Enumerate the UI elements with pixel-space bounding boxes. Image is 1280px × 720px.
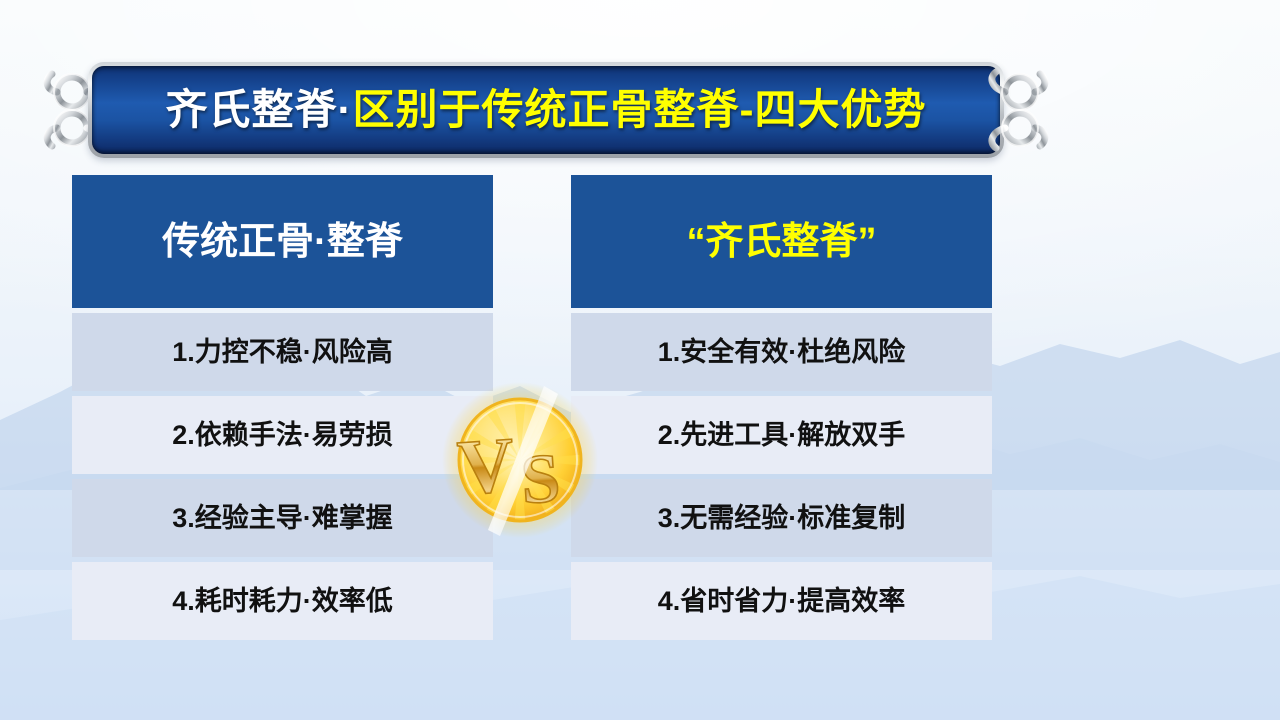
slide-root: 齐氏整脊·区别于传统正骨整脊-四大优势 [0, 0, 1280, 720]
table-row: 1.安全有效·杜绝风险 [571, 313, 992, 391]
column-rows-qishi: 1.安全有效·杜绝风险 2.先进工具·解放双手 3.无需经验·标准复制 4.省时… [571, 313, 992, 640]
row-label: 4.省时省力·提高效率 [658, 588, 906, 615]
column-header-label: “齐氏整脊” [686, 223, 876, 261]
column-qishi: “齐氏整脊” 1.安全有效·杜绝风险 2.先进工具·解放双手 3.无需经验·标准… [571, 175, 992, 651]
title-banner-frame: 齐氏整脊·区别于传统正骨整脊-四大优势 [88, 62, 1004, 158]
column-traditional: 传统正骨·整脊 1.力控不稳·风险高 2.依赖手法·易劳损 3.经验主导·难掌握… [72, 175, 493, 651]
title-banner-inner: 齐氏整脊·区别于传统正骨整脊-四大优势 [92, 66, 1000, 154]
scroll-ornament-icon [982, 62, 1054, 158]
row-label: 2.依赖手法·易劳损 [172, 422, 393, 449]
column-rows-traditional: 1.力控不稳·风险高 2.依赖手法·易劳损 3.经验主导·难掌握 4.耗时耗力·… [72, 313, 493, 640]
vs-coin-icon: V S [440, 380, 600, 540]
row-label: 3.无需经验·标准复制 [658, 505, 906, 532]
row-label: 1.力控不稳·风险高 [172, 339, 393, 366]
row-label: 3.经验主导·难掌握 [172, 505, 393, 532]
table-row: 2.依赖手法·易劳损 [72, 396, 493, 474]
table-row: 1.力控不稳·风险高 [72, 313, 493, 391]
row-label: 2.先进工具·解放双手 [658, 422, 906, 449]
column-header-label: 传统正骨·整脊 [162, 223, 403, 261]
table-row: 3.无需经验·标准复制 [571, 479, 992, 557]
table-row: 4.耗时耗力·效率低 [72, 562, 493, 640]
row-label: 1.安全有效·杜绝风险 [658, 339, 906, 366]
title-part-yellow: 区别于传统正骨整脊-四大优势 [353, 86, 927, 133]
table-row: 4.省时省力·提高效率 [571, 562, 992, 640]
title-part-white: 齐氏整脊· [166, 86, 353, 133]
column-header-qishi: “齐氏整脊” [571, 175, 992, 308]
table-row: 3.经验主导·难掌握 [72, 479, 493, 557]
page-title: 齐氏整脊·区别于传统正骨整脊-四大优势 [166, 89, 927, 131]
title-banner: 齐氏整脊·区别于传统正骨整脊-四大优势 [42, 60, 1050, 160]
table-row: 2.先进工具·解放双手 [571, 396, 992, 474]
row-label: 4.耗时耗力·效率低 [172, 588, 393, 615]
column-header-traditional: 传统正骨·整脊 [72, 175, 493, 308]
